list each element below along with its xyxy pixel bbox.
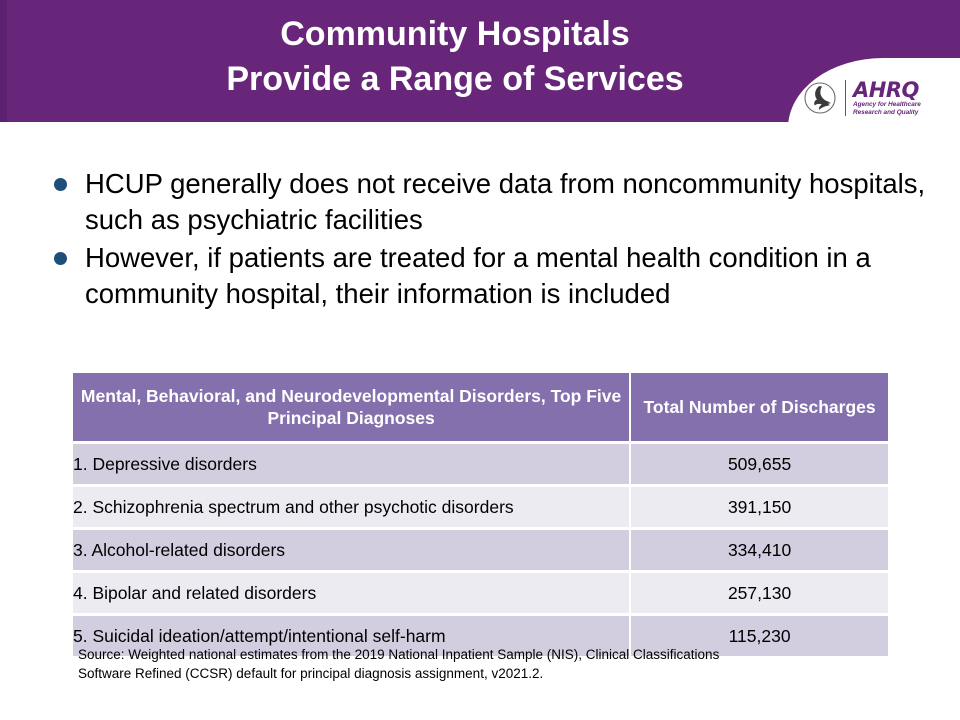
- bullet-dot-icon: [54, 178, 67, 191]
- slide-title-line-1: Community Hospitals: [280, 15, 629, 53]
- column-header-diagnoses: Mental, Behavioral, and Neurodevelopment…: [73, 373, 631, 441]
- cell-discharge-value: 334,410: [631, 527, 888, 570]
- ahrq-wordmark-block: AHRQ Agency for Healthcare Research and …: [853, 80, 921, 117]
- logo-divider: [845, 80, 846, 116]
- header-banner: Community Hospitals Provide a Range of S…: [0, 0, 960, 122]
- cell-diagnosis-label: 3. Alcohol-related disorders: [73, 527, 631, 570]
- hhs-seal-icon: [802, 78, 842, 118]
- bullet-dot-icon: [54, 252, 67, 265]
- table-header: Mental, Behavioral, and Neurodevelopment…: [73, 373, 888, 441]
- top-diagnoses-table: Mental, Behavioral, and Neurodevelopment…: [73, 373, 888, 656]
- ahrq-logo: AHRQ Agency for Healthcare Research and …: [802, 76, 952, 120]
- bullet-item: HCUP generally does not receive data fro…: [48, 166, 928, 238]
- slide-title-line-2: Provide a Range of Services: [60, 57, 850, 102]
- cell-discharge-value: 257,130: [631, 570, 888, 613]
- ahrq-tagline-line-2: Research and Quality: [853, 109, 921, 117]
- table-row: 2. Schizophrenia spectrum and other psyc…: [73, 484, 888, 527]
- bullet-item: However, if patients are treated for a m…: [48, 240, 928, 312]
- bullet-list: HCUP generally does not receive data fro…: [48, 166, 928, 314]
- source-note-line-2: Software Refined (CCSR) default for prin…: [78, 664, 908, 683]
- slide-title: Community Hospitals Provide a Range of S…: [60, 12, 850, 102]
- cell-discharge-value: 391,150: [631, 484, 888, 527]
- banner-left-edge-strip: [0, 0, 7, 122]
- ahrq-tagline-line-1: Agency for Healthcare: [853, 101, 921, 109]
- source-note-line-1: Source: Weighted national estimates from…: [78, 645, 908, 664]
- ahrq-wordmark: AHRQ: [853, 80, 921, 101]
- cell-discharge-value: 509,655: [631, 441, 888, 484]
- table-body: 1. Depressive disorders 509,655 2. Schiz…: [73, 441, 888, 656]
- cell-diagnosis-label: 1. Depressive disorders: [73, 441, 631, 484]
- column-header-discharges: Total Number of Discharges: [631, 373, 888, 441]
- cell-diagnosis-label: 4. Bipolar and related disorders: [73, 570, 631, 613]
- bullet-item-text: However, if patients are treated for a m…: [85, 240, 928, 312]
- table-header-row: Mental, Behavioral, and Neurodevelopment…: [73, 373, 888, 441]
- table-row: 4. Bipolar and related disorders 257,130: [73, 570, 888, 613]
- cell-diagnosis-label: 2. Schizophrenia spectrum and other psyc…: [73, 484, 631, 527]
- table-row: 3. Alcohol-related disorders 334,410: [73, 527, 888, 570]
- bullet-item-text: HCUP generally does not receive data fro…: [85, 166, 928, 238]
- source-note: Source: Weighted national estimates from…: [78, 645, 908, 683]
- table-row: 1. Depressive disorders 509,655: [73, 441, 888, 484]
